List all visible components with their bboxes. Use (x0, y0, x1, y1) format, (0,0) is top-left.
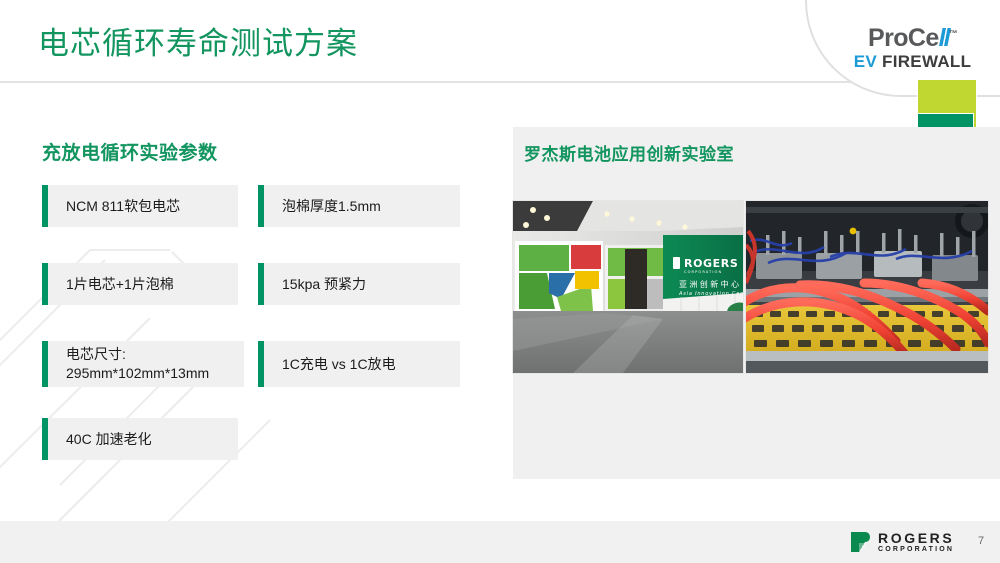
card-line-1: 1片电芯+1片泡棉 (66, 276, 174, 292)
card-text: 泡棉厚度1.5mm (264, 197, 391, 216)
rogers-mark-icon (848, 530, 872, 554)
rogers-subwordmark: CORPORATION (878, 546, 954, 553)
card-line-1: 泡棉厚度1.5mm (282, 198, 381, 214)
card-line-1: 电芯尺寸: (66, 346, 126, 362)
svg-text:ROGERS: ROGERS (684, 257, 738, 270)
param-card: NCM 811软包电芯 (42, 185, 238, 227)
rogers-corporation-logo: ROGERS CORPORATION (848, 530, 954, 554)
page-title: 电芯循环寿命测试方案 (38, 18, 358, 63)
procell-sub-ev: EV (854, 52, 877, 71)
procell-logo: ProCell™ EV FIREWALL (845, 26, 980, 70)
card-line-1: 1C充电 vs 1C放电 (282, 356, 396, 372)
procell-sub-firewall: FIREWALL (882, 52, 971, 71)
card-text: 电芯尺寸: 295mm*102mm*13mm (48, 345, 219, 383)
param-card: 1片电芯+1片泡棉 (42, 263, 238, 305)
card-line-1: 15kpa 预紧力 (282, 276, 366, 292)
trademark-icon: ™ (949, 29, 957, 39)
card-line-1: 40C 加速老化 (66, 431, 152, 447)
slide-canvas: 电芯循环寿命测试方案 ProCell™ EV FIREWALL 充放电循环实验参… (0, 0, 1000, 563)
lab-lobby-photo: ROGERS CORPORATION 亚洲创新中心 Asia Innovatio… (512, 200, 744, 374)
procell-word-dark: ProCe (868, 24, 939, 52)
svg-text:亚洲创新中心: 亚洲创新中心 (679, 279, 741, 289)
procell-word-blue: ll (939, 24, 949, 52)
page-number: 7 (978, 535, 984, 547)
card-text: 1片电芯+1片泡棉 (48, 275, 184, 294)
card-text: 15kpa 预紧力 (264, 275, 376, 294)
lab-panel-heading: 罗杰斯电池应用创新实验室 (524, 140, 734, 165)
svg-text:CORPORATION: CORPORATION (684, 270, 722, 274)
param-card: 泡棉厚度1.5mm (258, 185, 460, 227)
card-line-2: 295mm*102mm*13mm (66, 364, 209, 383)
card-text: 40C 加速老化 (48, 430, 162, 449)
param-card: 15kpa 预紧力 (258, 263, 460, 305)
param-card: 40C 加速老化 (42, 418, 238, 460)
rogers-wordmark: ROGERS (878, 531, 954, 545)
card-text: 1C充电 vs 1C放电 (264, 355, 406, 374)
battery-test-rig-photo (745, 200, 989, 374)
param-card: 1C充电 vs 1C放电 (258, 341, 460, 387)
card-line-1: NCM 811软包电芯 (66, 198, 180, 214)
left-section-heading: 充放电循环实验参数 (42, 138, 218, 165)
param-card: 电芯尺寸: 295mm*102mm*13mm (42, 341, 244, 387)
card-text: NCM 811软包电芯 (48, 197, 190, 216)
